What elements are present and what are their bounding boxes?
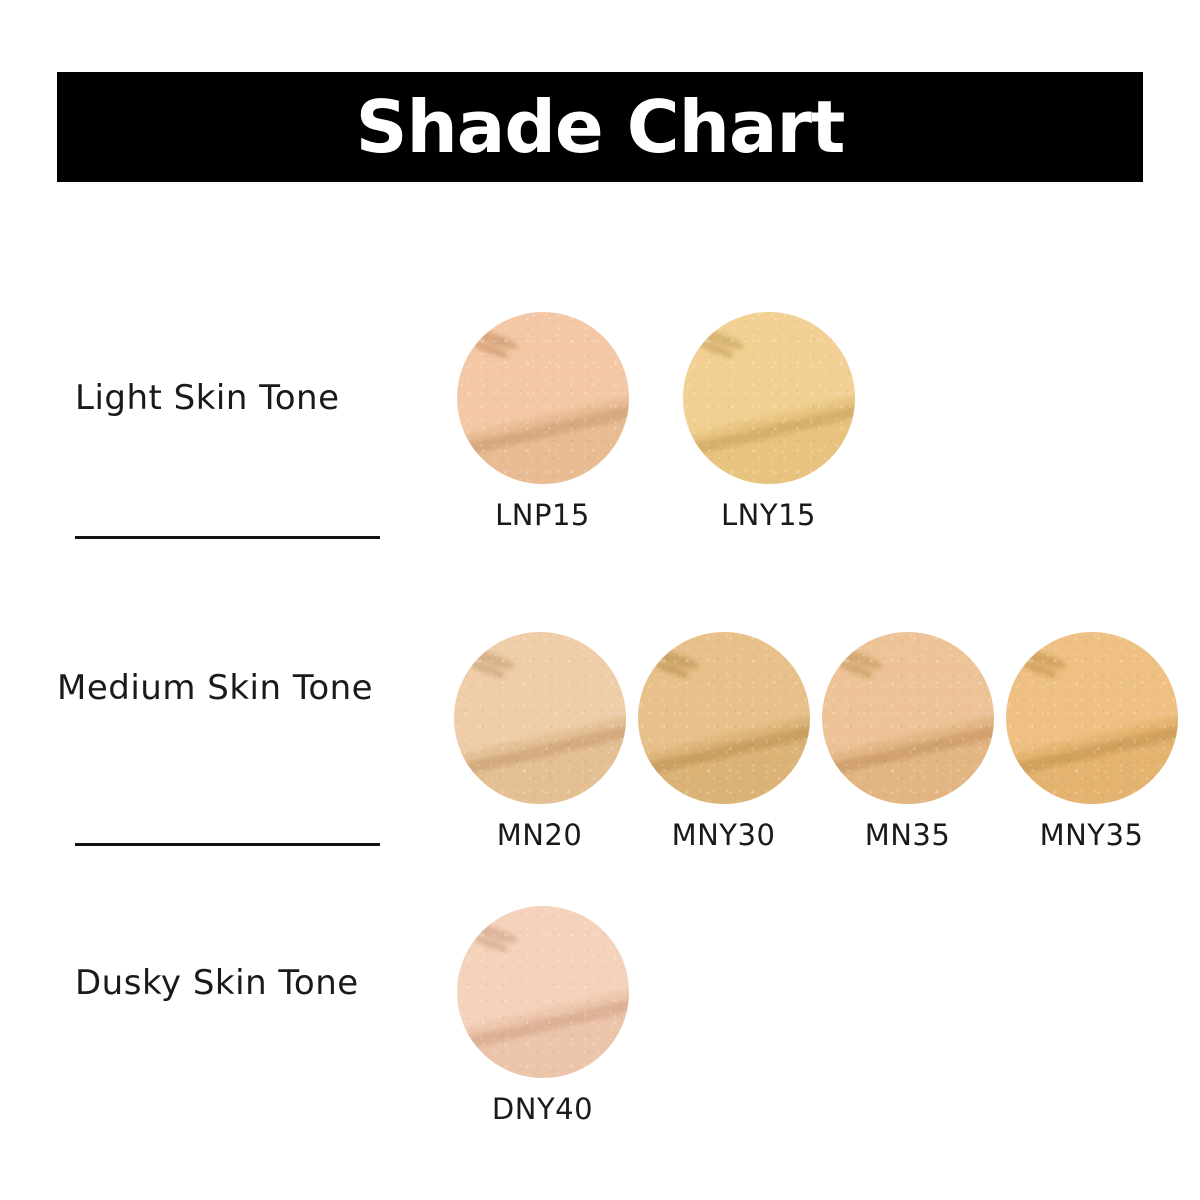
swatch-group-medium: MN20 MNY30 MN35 bbox=[452, 632, 1179, 852]
swatch-item[interactable]: LNP15 bbox=[455, 312, 630, 532]
page-title: Shade Chart bbox=[356, 91, 845, 163]
swatch-circle-mny30[interactable] bbox=[638, 632, 810, 804]
swatch-code: MN20 bbox=[497, 818, 583, 852]
swatch-item[interactable]: MNY30 bbox=[636, 632, 811, 852]
swatch-texture-grain bbox=[457, 906, 629, 1078]
swatch-circle-mn35[interactable] bbox=[822, 632, 994, 804]
swatch-item[interactable]: MN20 bbox=[452, 632, 627, 852]
swatch-item[interactable]: MNY35 bbox=[1004, 632, 1179, 852]
swatch-item[interactable]: LNY15 bbox=[681, 312, 856, 532]
section-divider-1 bbox=[75, 536, 380, 539]
swatch-texture-grain bbox=[457, 312, 629, 484]
swatch-code: MNY35 bbox=[1040, 818, 1144, 852]
swatch-texture-grain bbox=[1006, 632, 1178, 804]
section-label-medium: Medium Skin Tone bbox=[57, 668, 373, 708]
swatch-item[interactable]: MN35 bbox=[820, 632, 995, 852]
swatch-circle-mn20[interactable] bbox=[454, 632, 626, 804]
swatch-code: DNY40 bbox=[492, 1092, 593, 1126]
swatch-circle-mny35[interactable] bbox=[1006, 632, 1178, 804]
swatch-item[interactable]: DNY40 bbox=[455, 906, 630, 1126]
swatch-texture-grain bbox=[683, 312, 855, 484]
swatch-texture-grain bbox=[638, 632, 810, 804]
swatch-texture-grain bbox=[454, 632, 626, 804]
swatch-code: MNY30 bbox=[672, 818, 776, 852]
swatch-code: MN35 bbox=[865, 818, 951, 852]
swatch-circle-dny40[interactable] bbox=[457, 906, 629, 1078]
swatch-group-light: LNP15 LNY15 bbox=[455, 312, 856, 532]
swatch-code: LNY15 bbox=[721, 498, 816, 532]
section-divider-2 bbox=[75, 843, 380, 846]
swatch-code: LNP15 bbox=[495, 498, 590, 532]
swatch-circle-lnp15[interactable] bbox=[457, 312, 629, 484]
swatch-circle-lny15[interactable] bbox=[683, 312, 855, 484]
header-bar: Shade Chart bbox=[57, 72, 1143, 182]
swatch-group-dusky: DNY40 bbox=[455, 906, 630, 1126]
section-label-light: Light Skin Tone bbox=[75, 378, 340, 418]
section-label-dusky: Dusky Skin Tone bbox=[75, 963, 359, 1003]
swatch-texture-grain bbox=[822, 632, 994, 804]
